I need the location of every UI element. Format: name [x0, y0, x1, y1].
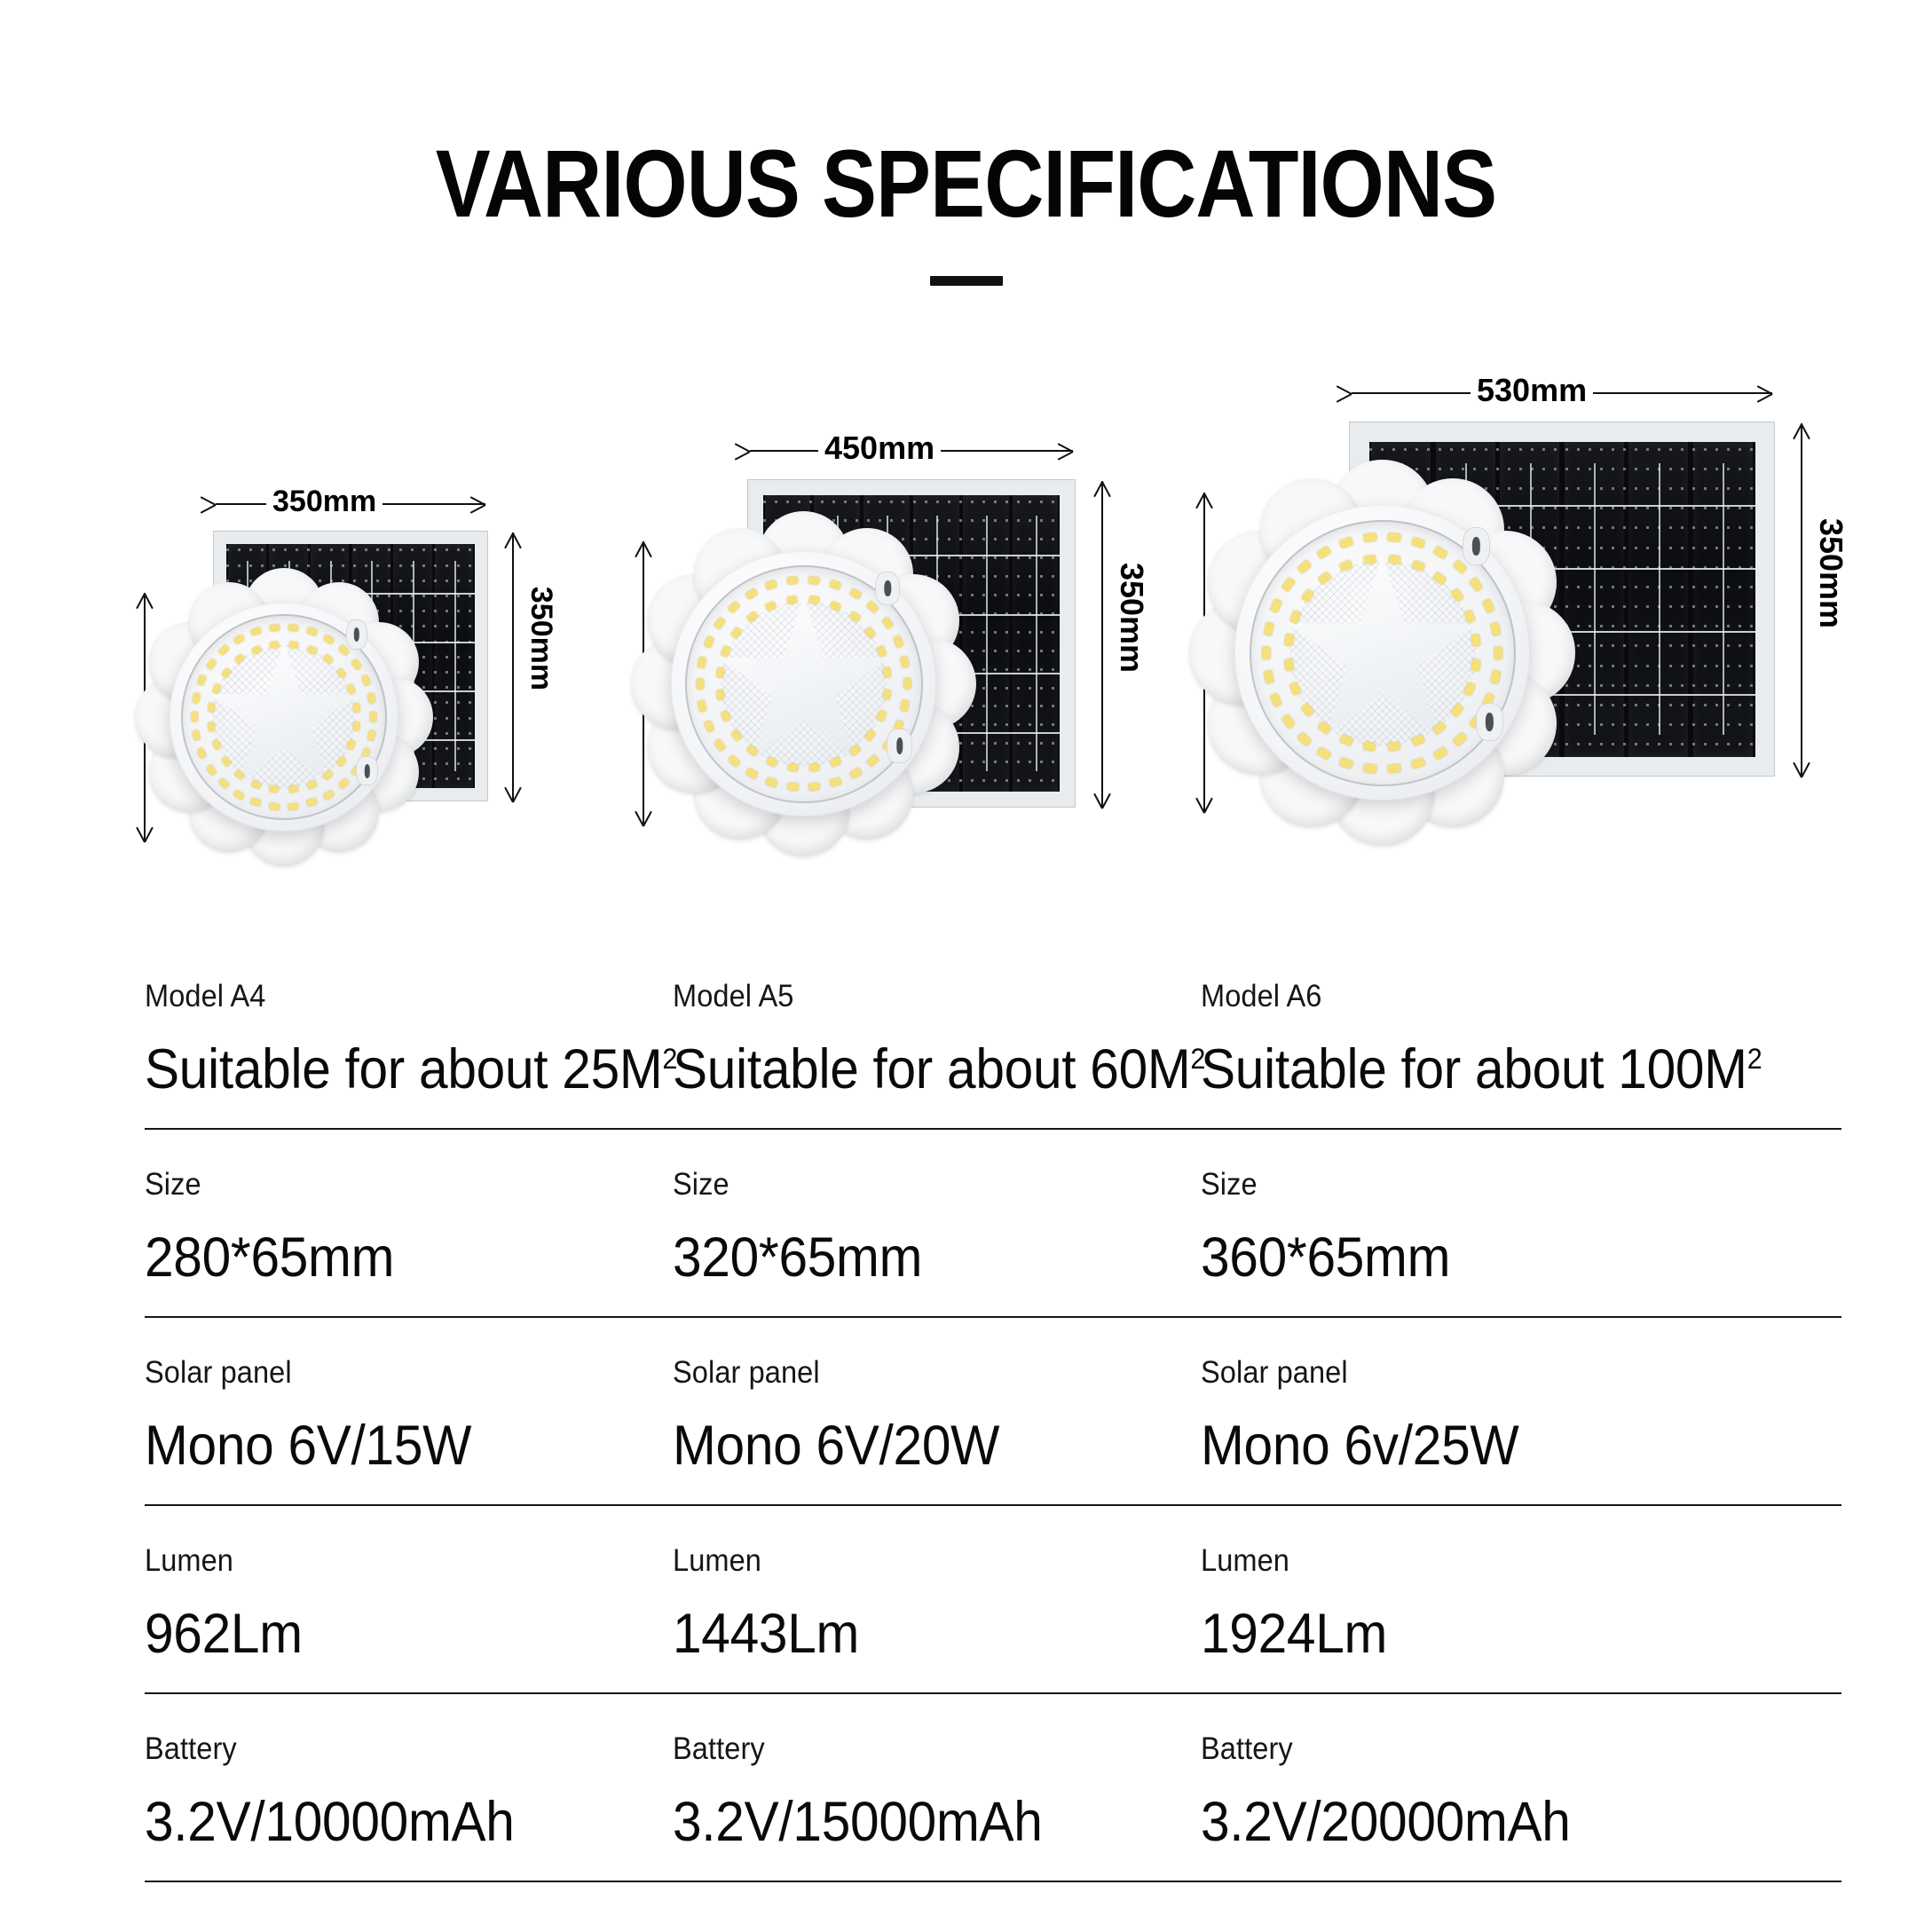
- led-chip: [1281, 714, 1296, 729]
- led-chip: [367, 730, 375, 741]
- size-value: 280*65mm: [145, 1230, 635, 1286]
- product-showcase: 350mm 350mm 280mm 450mm: [0, 311, 1932, 861]
- size-label: Size: [673, 1169, 1163, 1200]
- dimension-label-panel-height: 350mm: [1812, 512, 1849, 635]
- model-label: Model A4: [145, 981, 635, 1012]
- led-chip: [251, 798, 263, 807]
- table-cell-battery-a5: Battery 3.2V/15000mAh: [673, 1694, 1201, 1881]
- battery-label: Battery: [673, 1733, 1163, 1764]
- led-chip: [1284, 635, 1293, 647]
- led-chip: [1264, 622, 1274, 636]
- dimension-label-panel-width: 530mm: [1471, 372, 1593, 409]
- table-cell-size-a5: Size 320*65mm: [673, 1130, 1201, 1316]
- led-chip: [1363, 763, 1376, 773]
- led-chip: [714, 616, 726, 629]
- led-chip: [338, 645, 350, 657]
- table-cell-model-a4: Model A4 Suitable for about 25M2: [145, 963, 673, 1128]
- table-row-size: Size 280*65mm Size 320*65mm Size 360*65m…: [145, 1130, 1841, 1318]
- size-label: Size: [1201, 1169, 1796, 1200]
- led-chip: [306, 627, 318, 636]
- led-chip: [698, 699, 707, 712]
- table-cell-panel-a6: Solar panel Mono 6v/25W: [1201, 1318, 1841, 1504]
- led-chip: [1388, 555, 1400, 564]
- size-label: Size: [145, 1169, 635, 1200]
- led-chip: [809, 763, 820, 771]
- battery-label: Battery: [145, 1733, 635, 1764]
- lumen-label: Lumen: [145, 1545, 635, 1576]
- led-chip: [808, 577, 820, 586]
- led-chip: [728, 754, 741, 768]
- led-chip: [353, 703, 360, 712]
- led-chip: [1411, 757, 1425, 769]
- lamp-graphic: [1216, 486, 1549, 819]
- led-chip: [787, 763, 798, 771]
- led-chip: [1471, 635, 1480, 647]
- led-chip: [829, 777, 841, 787]
- led-chip: [765, 580, 777, 591]
- page-title: VARIOUS SPECIFICATIONS: [135, 133, 1796, 233]
- table-cell-lumen-a4: Lumen 962Lm: [145, 1506, 673, 1692]
- led-chip: [338, 778, 350, 790]
- led-chip: [1411, 537, 1425, 548]
- table-cell-battery-a4: Battery 3.2V/10000mAh: [145, 1694, 673, 1881]
- coverage-text: Suitable for about 60M: [673, 1038, 1190, 1100]
- battery-value: 3.2V/10000mAh: [145, 1794, 635, 1850]
- lamp-graphic: [155, 588, 413, 846]
- battery-label: Battery: [1201, 1733, 1796, 1764]
- table-cell-model-a6: Model A6 Suitable for about 100M2: [1201, 963, 1841, 1128]
- led-chip: [1297, 731, 1313, 745]
- led-chip: [251, 627, 263, 636]
- led-chip: [1270, 692, 1282, 707]
- table-cell-lumen-a6: Lumen 1924Lm: [1201, 1506, 1841, 1692]
- solar-panel-value: Mono 6V/20W: [673, 1418, 1163, 1474]
- led-chip: [883, 667, 891, 678]
- led-chip: [903, 678, 911, 689]
- led-chip: [900, 656, 910, 668]
- table-cell-lumen-a5: Lumen 1443Lm: [673, 1506, 1201, 1692]
- title-divider: [930, 276, 1003, 286]
- lamp-mount-tab: [875, 572, 900, 606]
- table-cell-battery-a6: Battery 3.2V/20000mAh: [1201, 1694, 1841, 1881]
- led-chip: [347, 740, 356, 750]
- lumen-value: 1443Lm: [673, 1606, 1163, 1662]
- spec-table: Model A4 Suitable for about 25M2 Model A…: [145, 963, 1841, 1882]
- led-chip: [288, 802, 298, 809]
- led-chip: [370, 713, 376, 722]
- led-chip: [233, 635, 245, 645]
- led-chip: [191, 713, 197, 722]
- solar-panel-value: Mono 6V/15W: [145, 1418, 635, 1474]
- led-chip: [697, 678, 704, 689]
- led-chip: [728, 601, 741, 614]
- led-chip: [1471, 659, 1480, 672]
- coverage-text: Suitable for about 25M: [145, 1038, 662, 1100]
- table-row-battery: Battery 3.2V/10000mAh Battery 3.2V/15000…: [145, 1694, 1841, 1882]
- led-chip: [1317, 546, 1332, 559]
- dimension-label-panel-width: 450mm: [818, 430, 941, 467]
- led-chip: [361, 675, 371, 687]
- led-chip: [1494, 647, 1502, 659]
- table-cell-size-a4: Size 280*65mm: [145, 1130, 673, 1316]
- led-chip: [323, 635, 335, 645]
- led-chip: [704, 635, 715, 649]
- led-chip: [353, 722, 360, 730]
- led-chip: [716, 690, 724, 700]
- led-chip: [787, 783, 799, 792]
- led-chip: [1432, 746, 1447, 760]
- led-chip: [1452, 731, 1467, 745]
- led-chip: [883, 690, 891, 700]
- led-chip: [893, 635, 904, 649]
- dimension-label-panel-height: 350mm: [1113, 556, 1150, 679]
- lamp-mount-tab: [356, 756, 378, 785]
- product-image-model-a4: 350mm 350mm 280mm: [124, 444, 541, 861]
- led-chip: [787, 577, 799, 586]
- lumen-value: 1924Lm: [1201, 1606, 1796, 1662]
- led-chip: [288, 641, 297, 648]
- led-chip: [1482, 598, 1494, 613]
- solar-cell-texture: [226, 548, 475, 551]
- lamp-mount-tab: [1476, 703, 1504, 741]
- led-chip: [866, 754, 879, 768]
- led-chip: [808, 783, 820, 792]
- led-chip: [351, 658, 361, 670]
- battery-value: 3.2V/20000mAh: [1201, 1794, 1796, 1850]
- led-chip: [765, 777, 777, 787]
- solar-panel-value: Mono 6v/25W: [1201, 1418, 1796, 1474]
- led-chip: [306, 798, 318, 807]
- led-chip: [848, 768, 862, 780]
- led-chip: [1388, 763, 1401, 773]
- lamp-mount-tab: [887, 729, 911, 763]
- dimension-line-height: [512, 532, 514, 801]
- led-chip: [193, 693, 201, 704]
- led-chip: [1270, 598, 1282, 613]
- solar-panel-label: Solar panel: [1201, 1357, 1796, 1388]
- table-cell-panel-a4: Solar panel Mono 6V/15W: [145, 1318, 673, 1504]
- coverage-value: Suitable for about 100M2: [1201, 1042, 1796, 1098]
- led-chip: [1339, 757, 1353, 769]
- led-chip: [1389, 742, 1401, 751]
- size-value: 360*65mm: [1201, 1230, 1796, 1286]
- led-chip: [270, 802, 280, 809]
- lumen-label: Lumen: [1201, 1545, 1796, 1576]
- led-chip: [206, 658, 217, 670]
- led-chip: [1432, 546, 1447, 559]
- led-chip: [900, 699, 910, 712]
- led-chip: [714, 738, 726, 752]
- solar-cell-texture: [763, 501, 1061, 503]
- lumen-label: Lumen: [673, 1545, 1163, 1576]
- led-chip: [1262, 647, 1270, 659]
- led-chip: [848, 588, 862, 601]
- solar-cell-texture: [1369, 448, 1755, 451]
- led-chip: [1297, 559, 1313, 573]
- coverage-superscript: 2: [1747, 1042, 1762, 1075]
- led-chip: [1364, 742, 1376, 751]
- led-chip: [1363, 532, 1376, 542]
- led-chip: [1490, 622, 1501, 636]
- solar-panel-label: Solar panel: [145, 1357, 635, 1388]
- led-chip: [193, 730, 201, 741]
- led-chip: [1264, 670, 1274, 684]
- dimension-label-panel-width: 350mm: [266, 485, 382, 519]
- led-chip: [206, 764, 217, 776]
- led-chip: [1490, 670, 1501, 684]
- solar-cell-texture: [226, 564, 475, 567]
- led-chip: [704, 720, 715, 733]
- led-chip: [323, 790, 335, 800]
- led-chip: [1339, 537, 1353, 548]
- led-chip: [367, 693, 375, 704]
- battery-value: 3.2V/15000mAh: [673, 1794, 1163, 1850]
- table-row-lumen: Lumen 962Lm Lumen 1443Lm Lumen 1924Lm: [145, 1506, 1841, 1694]
- led-chip: [1452, 559, 1467, 573]
- header: VARIOUS SPECIFICATIONS: [0, 133, 1932, 286]
- led-chip: [1284, 659, 1293, 672]
- led-chip: [1281, 577, 1296, 592]
- led-chip: [698, 656, 707, 668]
- product-image-model-a6: 530mm 350mm 360mm: [1180, 319, 1810, 861]
- led-chip: [1364, 555, 1376, 564]
- led-chip: [866, 601, 879, 614]
- coverage-text: Suitable for about 100M: [1201, 1038, 1747, 1100]
- led-chip: [745, 768, 759, 780]
- solar-cell-texture: [1369, 468, 1755, 470]
- led-chip: [233, 790, 245, 800]
- lamp-mount-tab: [346, 619, 368, 649]
- led-chip: [270, 624, 280, 631]
- product-image-model-a5: 450mm 350mm 320mm: [621, 382, 1118, 861]
- led-chip: [218, 778, 230, 790]
- led-chip: [197, 748, 207, 760]
- led-chip: [289, 786, 298, 793]
- dimension-line-height: [1801, 423, 1802, 777]
- lamp-mount-tab: [1463, 527, 1491, 565]
- led-chip: [829, 580, 841, 591]
- lumen-value: 962Lm: [145, 1606, 635, 1662]
- table-row-model: Model A4 Suitable for about 25M2 Model A…: [145, 963, 1841, 1130]
- model-label: Model A5: [673, 981, 1163, 1012]
- led-chip: [1388, 532, 1401, 542]
- led-chip: [1317, 746, 1332, 760]
- led-chip: [1469, 577, 1483, 592]
- coverage-value: Suitable for about 60M2: [673, 1042, 1163, 1098]
- led-chip: [745, 588, 759, 601]
- table-cell-size-a6: Size 360*65mm: [1201, 1130, 1841, 1316]
- dimension-line-height: [1101, 481, 1103, 808]
- size-value: 320*65mm: [673, 1230, 1163, 1286]
- led-chip: [881, 616, 894, 629]
- coverage-value: Suitable for about 25M2: [145, 1042, 635, 1098]
- led-chip: [288, 624, 298, 631]
- led-chip: [270, 786, 279, 793]
- lamp-graphic: [655, 535, 952, 832]
- led-chip: [218, 645, 230, 657]
- table-cell-panel-a5: Solar panel Mono 6V/20W: [673, 1318, 1201, 1504]
- table-row-solar-panel: Solar panel Mono 6V/15W Solar panel Mono…: [145, 1318, 1841, 1506]
- model-label: Model A6: [1201, 981, 1796, 1012]
- led-chip: [716, 667, 724, 678]
- solar-panel-label: Solar panel: [673, 1357, 1163, 1388]
- led-chip: [197, 675, 207, 687]
- table-cell-model-a5: Model A5 Suitable for about 60M2: [673, 963, 1201, 1128]
- dimension-label-panel-height: 350mm: [524, 580, 558, 697]
